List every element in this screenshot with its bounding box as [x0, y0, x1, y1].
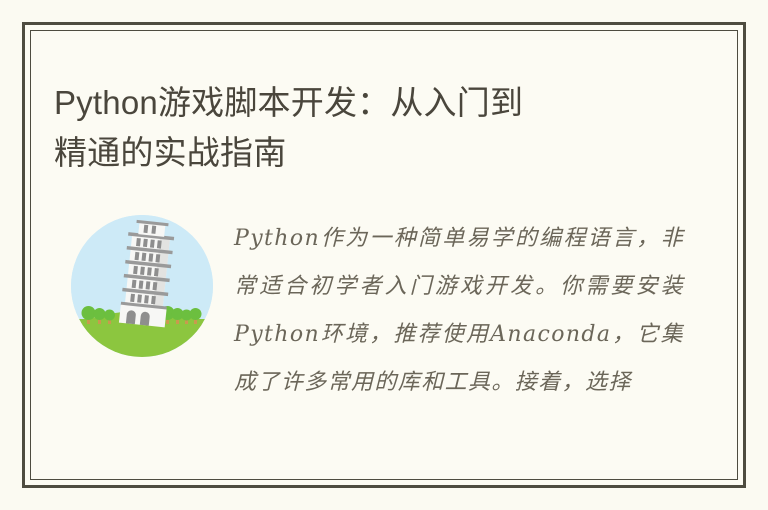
- page-title: Python游戏脚本开发：从入门到 精通的实战指南: [54, 78, 674, 178]
- article-body-section: Python作为一种简单易学的编程语言，非常适合初学者入门游戏开发。你需要安装P…: [31, 193, 737, 480]
- leaning-tower-of-pisa-icon: [71, 215, 213, 357]
- article-card: Python游戏脚本开发：从入门到 精通的实战指南: [22, 22, 746, 488]
- article-thumbnail: [71, 215, 213, 357]
- article-card-inner: Python游戏脚本开发：从入门到 精通的实战指南: [30, 30, 738, 480]
- article-body-text: Python作为一种简单易学的编程语言，非常适合初学者入门游戏开发。你需要安装P…: [234, 215, 684, 407]
